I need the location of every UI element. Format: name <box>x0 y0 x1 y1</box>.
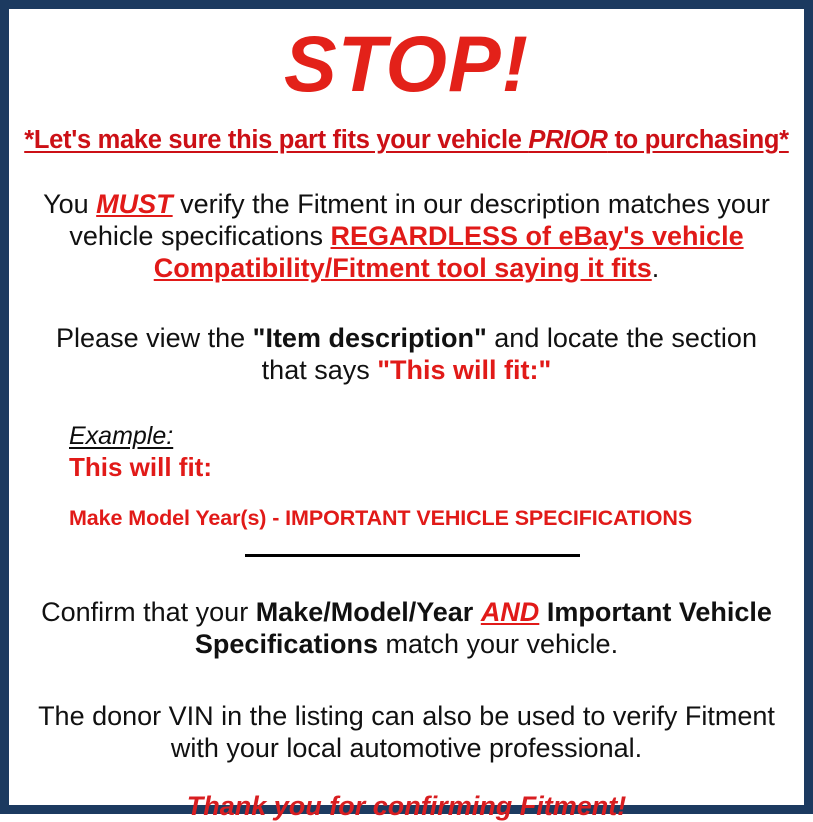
make-model-year-label: Make/Model/Year <box>256 597 474 627</box>
view-text-lead: Please view the <box>56 323 253 353</box>
example-spec-line: Make Model Year(s) - IMPORTANT VEHICLE S… <box>69 505 790 531</box>
divider-row <box>23 554 790 568</box>
item-description-paragraph: Please view the "Item description" and l… <box>23 322 790 386</box>
thank-you-message: Thank you for confirming Fitment! <box>23 790 790 822</box>
subtitle-lead: *Let's make sure this part fits your veh… <box>24 126 528 154</box>
confirm-space-2 <box>539 597 547 627</box>
notice-content: STOP! *Let's make sure this part fits yo… <box>19 17 794 809</box>
fitment-notice-card: STOP! *Let's make sure this part fits yo… <box>0 0 813 814</box>
subtitle-tail: to purchasing* <box>608 126 789 154</box>
confirm-text-lead: Confirm that your <box>41 597 256 627</box>
section-divider <box>245 554 580 557</box>
donor-vin-paragraph: The donor VIN in the listing can also be… <box>23 700 790 764</box>
this-will-fit-quote: "This will fit:" <box>377 355 551 385</box>
item-description-label: "Item description" <box>253 323 487 353</box>
must-text-period: . <box>652 253 660 283</box>
example-label: Example: <box>69 422 173 451</box>
must-emphasis: MUST <box>96 189 173 219</box>
and-emphasis: AND <box>481 597 540 627</box>
subtitle-emphasis: PRIOR <box>528 126 607 154</box>
example-block: Example: This will fit: Make Model Year(… <box>23 422 790 531</box>
must-text-lead: You <box>43 189 96 219</box>
must-verify-paragraph: You MUST verify the Fitment in our descr… <box>23 188 790 284</box>
subtitle-banner: *Let's make sure this part fits your veh… <box>23 125 790 155</box>
confirm-space-1 <box>473 597 481 627</box>
example-label-row: Example: <box>69 422 790 451</box>
example-fit-header: This will fit: <box>69 452 790 482</box>
page-title: STOP! <box>23 17 790 111</box>
confirm-text-tail: match your vehicle. <box>378 629 618 659</box>
confirm-paragraph: Confirm that your Make/Model/Year AND Im… <box>23 596 790 660</box>
